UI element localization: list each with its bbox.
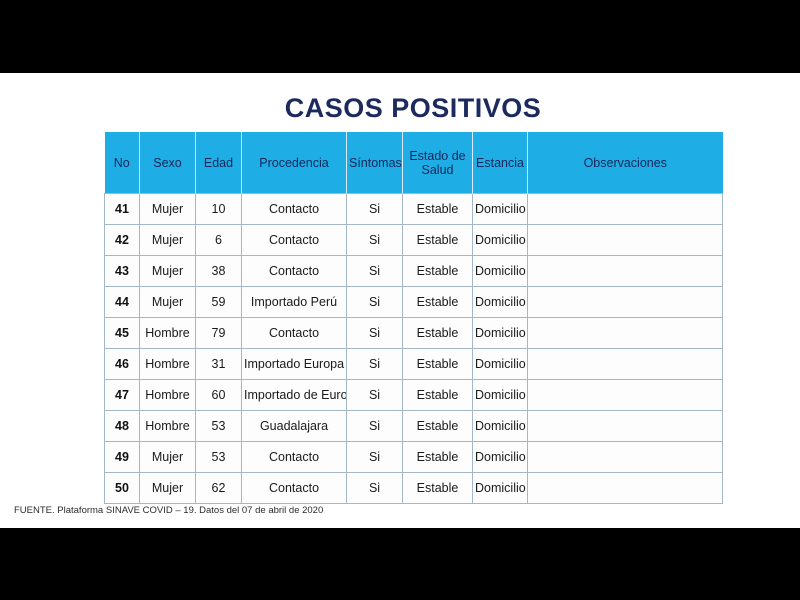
cell-sexo: Mujer	[140, 442, 196, 473]
cell-sintomas: Si	[347, 194, 403, 225]
cell-edad: 31	[196, 349, 242, 380]
table-body: 41Mujer10ContactoSiEstableDomicilio42Muj…	[105, 194, 723, 504]
cell-observaciones	[528, 194, 723, 225]
letterbox-top	[0, 0, 800, 73]
column-header-procedencia[interactable]: Procedencia	[242, 132, 347, 194]
cell-estado-salud: Estable	[403, 287, 473, 318]
cell-sintomas: Si	[347, 225, 403, 256]
cell-estancia: Domicilio	[473, 411, 528, 442]
source-footnote: FUENTE. Plataforma SINAVE COVID – 19. Da…	[14, 505, 323, 516]
cases-table: No Sexo Edad Procedencia Síntomas Estado…	[104, 132, 723, 504]
cell-estancia: Domicilio	[473, 287, 528, 318]
cell-observaciones	[528, 442, 723, 473]
cell-estado-salud: Estable	[403, 473, 473, 504]
table-row[interactable]: 48Hombre53GuadalajaraSiEstableDomicilio	[105, 411, 723, 442]
page-title: CASOS POSITIVOS	[104, 93, 722, 124]
table-header-row: No Sexo Edad Procedencia Síntomas Estado…	[105, 132, 723, 194]
slide-canvas: CASOS POSITIVOS No Sexo Edad Procedencia…	[0, 73, 800, 528]
cell-observaciones	[528, 318, 723, 349]
column-header-edad[interactable]: Edad	[196, 132, 242, 194]
cell-no: 44	[105, 287, 140, 318]
cell-estancia: Domicilio	[473, 318, 528, 349]
cell-edad: 59	[196, 287, 242, 318]
column-header-sexo[interactable]: Sexo	[140, 132, 196, 194]
table-row[interactable]: 49Mujer53ContactoSiEstableDomicilio	[105, 442, 723, 473]
cell-no: 46	[105, 349, 140, 380]
cell-sexo: Hombre	[140, 318, 196, 349]
slide-stage: CASOS POSITIVOS No Sexo Edad Procedencia…	[0, 0, 800, 600]
cell-sexo: Mujer	[140, 287, 196, 318]
cell-sintomas: Si	[347, 318, 403, 349]
cell-estancia: Domicilio	[473, 349, 528, 380]
column-header-estancia[interactable]: Estancia	[473, 132, 528, 194]
column-header-no[interactable]: No	[105, 132, 140, 194]
cell-observaciones	[528, 287, 723, 318]
cell-no: 50	[105, 473, 140, 504]
cell-sintomas: Si	[347, 349, 403, 380]
letterbox-bottom	[0, 528, 800, 600]
cell-no: 48	[105, 411, 140, 442]
cell-no: 41	[105, 194, 140, 225]
cell-estancia: Domicilio	[473, 473, 528, 504]
cell-estado-salud: Estable	[403, 380, 473, 411]
table-row[interactable]: 47Hombre60Importado de EuropaSiEstableDo…	[105, 380, 723, 411]
cell-estado-salud: Estable	[403, 442, 473, 473]
cell-edad: 79	[196, 318, 242, 349]
cell-no: 45	[105, 318, 140, 349]
cell-procedencia: Importado Europa	[242, 349, 347, 380]
cell-observaciones	[528, 473, 723, 504]
cell-edad: 6	[196, 225, 242, 256]
cell-estancia: Domicilio	[473, 256, 528, 287]
cell-procedencia: Contacto	[242, 442, 347, 473]
cell-estancia: Domicilio	[473, 194, 528, 225]
cell-estado-salud: Estable	[403, 256, 473, 287]
cell-procedencia: Contacto	[242, 225, 347, 256]
cell-no: 42	[105, 225, 140, 256]
table-row[interactable]: 50Mujer62ContactoSiEstableDomicilio	[105, 473, 723, 504]
table-row[interactable]: 44Mujer59Importado PerúSiEstableDomicili…	[105, 287, 723, 318]
cell-sexo: Hombre	[140, 380, 196, 411]
cell-sexo: Mujer	[140, 256, 196, 287]
cell-sintomas: Si	[347, 411, 403, 442]
cell-estancia: Domicilio	[473, 442, 528, 473]
cell-observaciones	[528, 225, 723, 256]
cell-procedencia: Contacto	[242, 256, 347, 287]
cell-observaciones	[528, 256, 723, 287]
cell-estado-salud: Estable	[403, 318, 473, 349]
cell-no: 43	[105, 256, 140, 287]
cell-sintomas: Si	[347, 473, 403, 504]
cell-estado-salud: Estable	[403, 194, 473, 225]
cell-edad: 53	[196, 442, 242, 473]
cell-edad: 10	[196, 194, 242, 225]
cell-procedencia: Importado de Europa	[242, 380, 347, 411]
cell-procedencia: Contacto	[242, 473, 347, 504]
cell-estancia: Domicilio	[473, 225, 528, 256]
cell-sintomas: Si	[347, 442, 403, 473]
column-header-sintomas[interactable]: Síntomas	[347, 132, 403, 194]
cell-sintomas: Si	[347, 256, 403, 287]
table-row[interactable]: 42Mujer6ContactoSiEstableDomicilio	[105, 225, 723, 256]
cell-sexo: Mujer	[140, 194, 196, 225]
cell-procedencia: Importado Perú	[242, 287, 347, 318]
cell-procedencia: Guadalajara	[242, 411, 347, 442]
cell-observaciones	[528, 349, 723, 380]
column-header-observaciones[interactable]: Observaciones	[528, 132, 723, 194]
cell-edad: 62	[196, 473, 242, 504]
cell-estado-salud: Estable	[403, 225, 473, 256]
cell-sexo: Mujer	[140, 225, 196, 256]
cell-sexo: Hombre	[140, 349, 196, 380]
cell-procedencia: Contacto	[242, 194, 347, 225]
cell-estado-salud: Estable	[403, 349, 473, 380]
table-row[interactable]: 41Mujer10ContactoSiEstableDomicilio	[105, 194, 723, 225]
cell-no: 47	[105, 380, 140, 411]
cell-sexo: Mujer	[140, 473, 196, 504]
table-row[interactable]: 43Mujer38ContactoSiEstableDomicilio	[105, 256, 723, 287]
cell-observaciones	[528, 411, 723, 442]
cell-sexo: Hombre	[140, 411, 196, 442]
table-row[interactable]: 45Hombre79ContactoSiEstableDomicilio	[105, 318, 723, 349]
cell-edad: 38	[196, 256, 242, 287]
cell-edad: 60	[196, 380, 242, 411]
cell-edad: 53	[196, 411, 242, 442]
cell-sintomas: Si	[347, 287, 403, 318]
cell-sintomas: Si	[347, 380, 403, 411]
cell-estado-salud: Estable	[403, 411, 473, 442]
table-row[interactable]: 46Hombre31Importado EuropaSiEstableDomic…	[105, 349, 723, 380]
cell-no: 49	[105, 442, 140, 473]
column-header-estado-salud[interactable]: Estado de Salud	[403, 132, 473, 194]
cell-procedencia: Contacto	[242, 318, 347, 349]
cell-estancia: Domicilio	[473, 380, 528, 411]
table-header: No Sexo Edad Procedencia Síntomas Estado…	[105, 132, 723, 194]
cases-table-wrapper: No Sexo Edad Procedencia Síntomas Estado…	[104, 132, 722, 504]
cell-observaciones	[528, 380, 723, 411]
